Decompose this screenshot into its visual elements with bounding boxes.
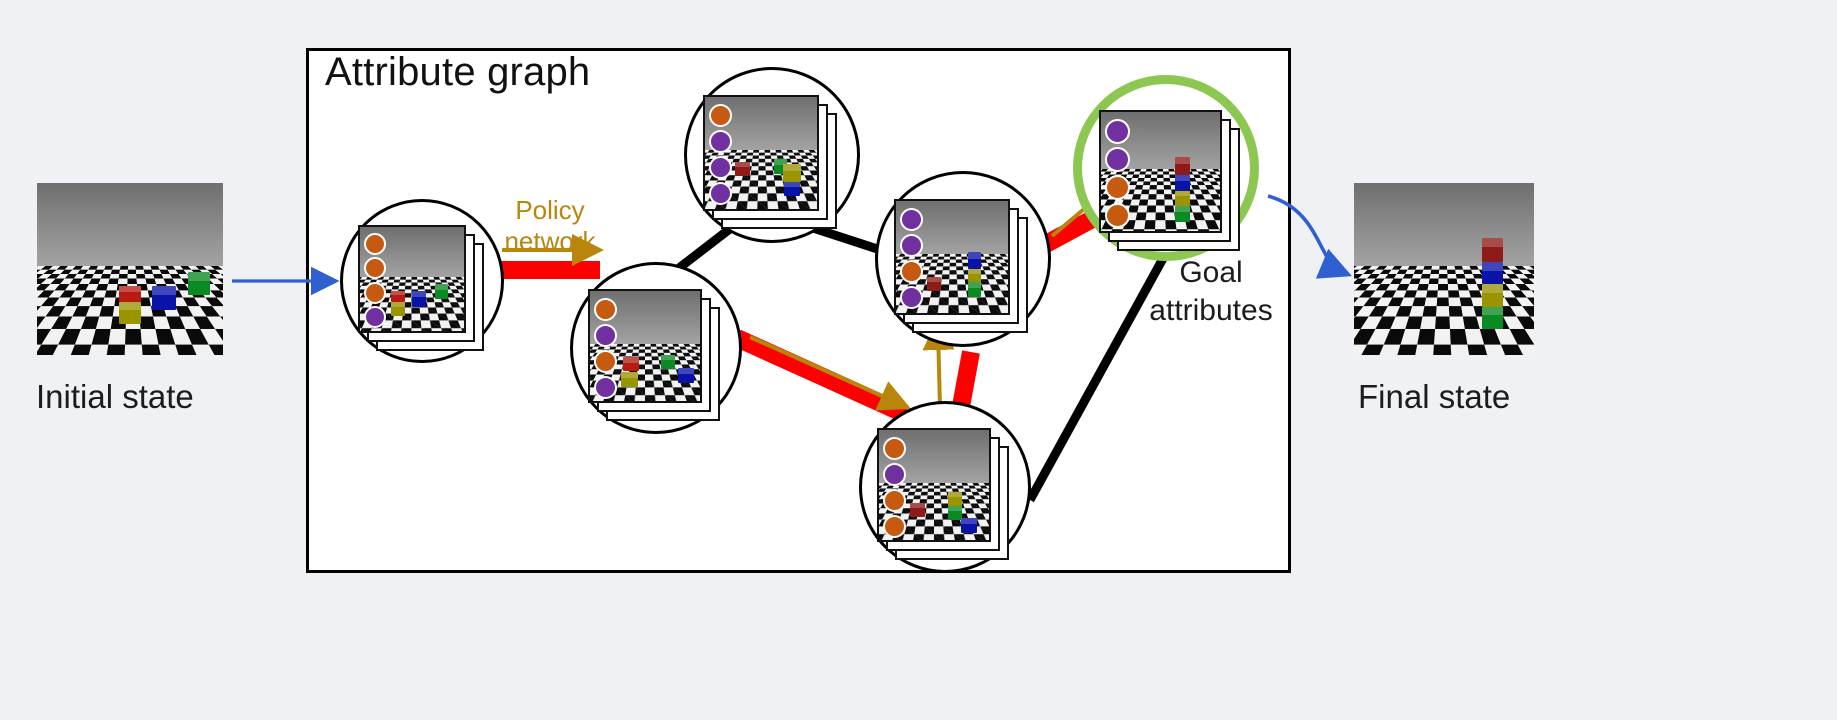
attribute-dot-orange (364, 233, 386, 255)
scene-block-0 (391, 291, 406, 301)
state-card-stack (588, 289, 702, 403)
scene-block-1 (968, 269, 981, 282)
scene-block-2 (968, 282, 981, 297)
scene-block-0 (623, 357, 638, 371)
graph-node-bottom[interactable] (859, 401, 1031, 573)
attribute-dot-purple (900, 208, 923, 231)
scene-block-2 (948, 506, 962, 520)
scene-block-0 (1175, 157, 1190, 175)
attribute-dot-orange (900, 260, 923, 283)
scene-block-0 (910, 503, 924, 517)
attribute-dot-column (898, 207, 926, 311)
scene-block-0 (968, 252, 981, 269)
attribute-dot-purple (883, 463, 906, 486)
figure-canvas: Initial state Final state Attribute grap… (0, 0, 1837, 720)
state-card-stack (1099, 110, 1222, 233)
scene-block-1 (621, 372, 638, 386)
state-card-stack (877, 428, 991, 542)
attribute-dot-orange (883, 437, 906, 460)
attribute-dot-purple (709, 182, 732, 205)
attribute-dot-orange (883, 489, 906, 512)
attribute-dot-purple (594, 324, 617, 347)
scene-block-0 (735, 162, 750, 177)
scene-block-3 (678, 368, 693, 383)
attribute-dot-orange (709, 104, 732, 127)
state-card-front (588, 289, 702, 403)
state-card-front (894, 199, 1010, 315)
scene-block-1 (391, 302, 406, 317)
scene-block-1 (948, 492, 962, 506)
attribute-dot-orange (364, 282, 386, 304)
attribute-dot-purple (1105, 119, 1130, 144)
graph-node-right[interactable] (875, 171, 1051, 347)
attribute-dot-column (592, 297, 619, 400)
attribute-dot-purple (364, 306, 386, 328)
scene-block-3 (927, 277, 940, 292)
attribute-dot-column (362, 232, 388, 329)
state-card-front (703, 95, 819, 211)
attribute-dot-column (707, 103, 735, 207)
graph-node-goal[interactable] (1073, 75, 1259, 261)
scene-block-3 (1175, 206, 1190, 221)
attribute-dot-orange (594, 298, 617, 321)
state-card-front (358, 225, 466, 333)
scene-block-3 (961, 518, 978, 533)
state-card-stack (358, 225, 466, 333)
attribute-dot-purple (900, 286, 923, 309)
attribute-dot-orange (364, 257, 386, 279)
state-card-front (1099, 110, 1222, 233)
attribute-dot-purple (1105, 147, 1130, 172)
attribute-dot-column (1103, 118, 1133, 229)
attribute-dot-purple (900, 234, 923, 257)
scene-block-1 (1175, 175, 1190, 190)
attribute-dot-purple (594, 376, 617, 399)
attribute-dot-column (881, 436, 908, 539)
scene-block-2 (783, 164, 801, 182)
scene-block-2 (661, 355, 675, 369)
attribute-dot-orange (1105, 175, 1130, 200)
scene-block-3 (435, 284, 449, 299)
attribute-dot-orange (594, 350, 617, 373)
graph-node-second[interactable] (570, 262, 742, 434)
state-card-stack (703, 95, 819, 211)
scene-block-3 (784, 182, 800, 197)
scene-block-2 (412, 291, 427, 307)
attribute-dot-orange (883, 515, 906, 538)
attribute-dot-purple (709, 156, 732, 179)
state-card-stack (894, 199, 1010, 315)
graph-node-start[interactable] (340, 199, 504, 363)
state-card-front (877, 428, 991, 542)
attribute-dot-purple (709, 130, 732, 153)
graph-node-top[interactable] (684, 67, 860, 243)
scene-block-2 (1175, 191, 1190, 206)
graph-nodes (0, 0, 1837, 720)
attribute-dot-orange (1105, 203, 1130, 228)
